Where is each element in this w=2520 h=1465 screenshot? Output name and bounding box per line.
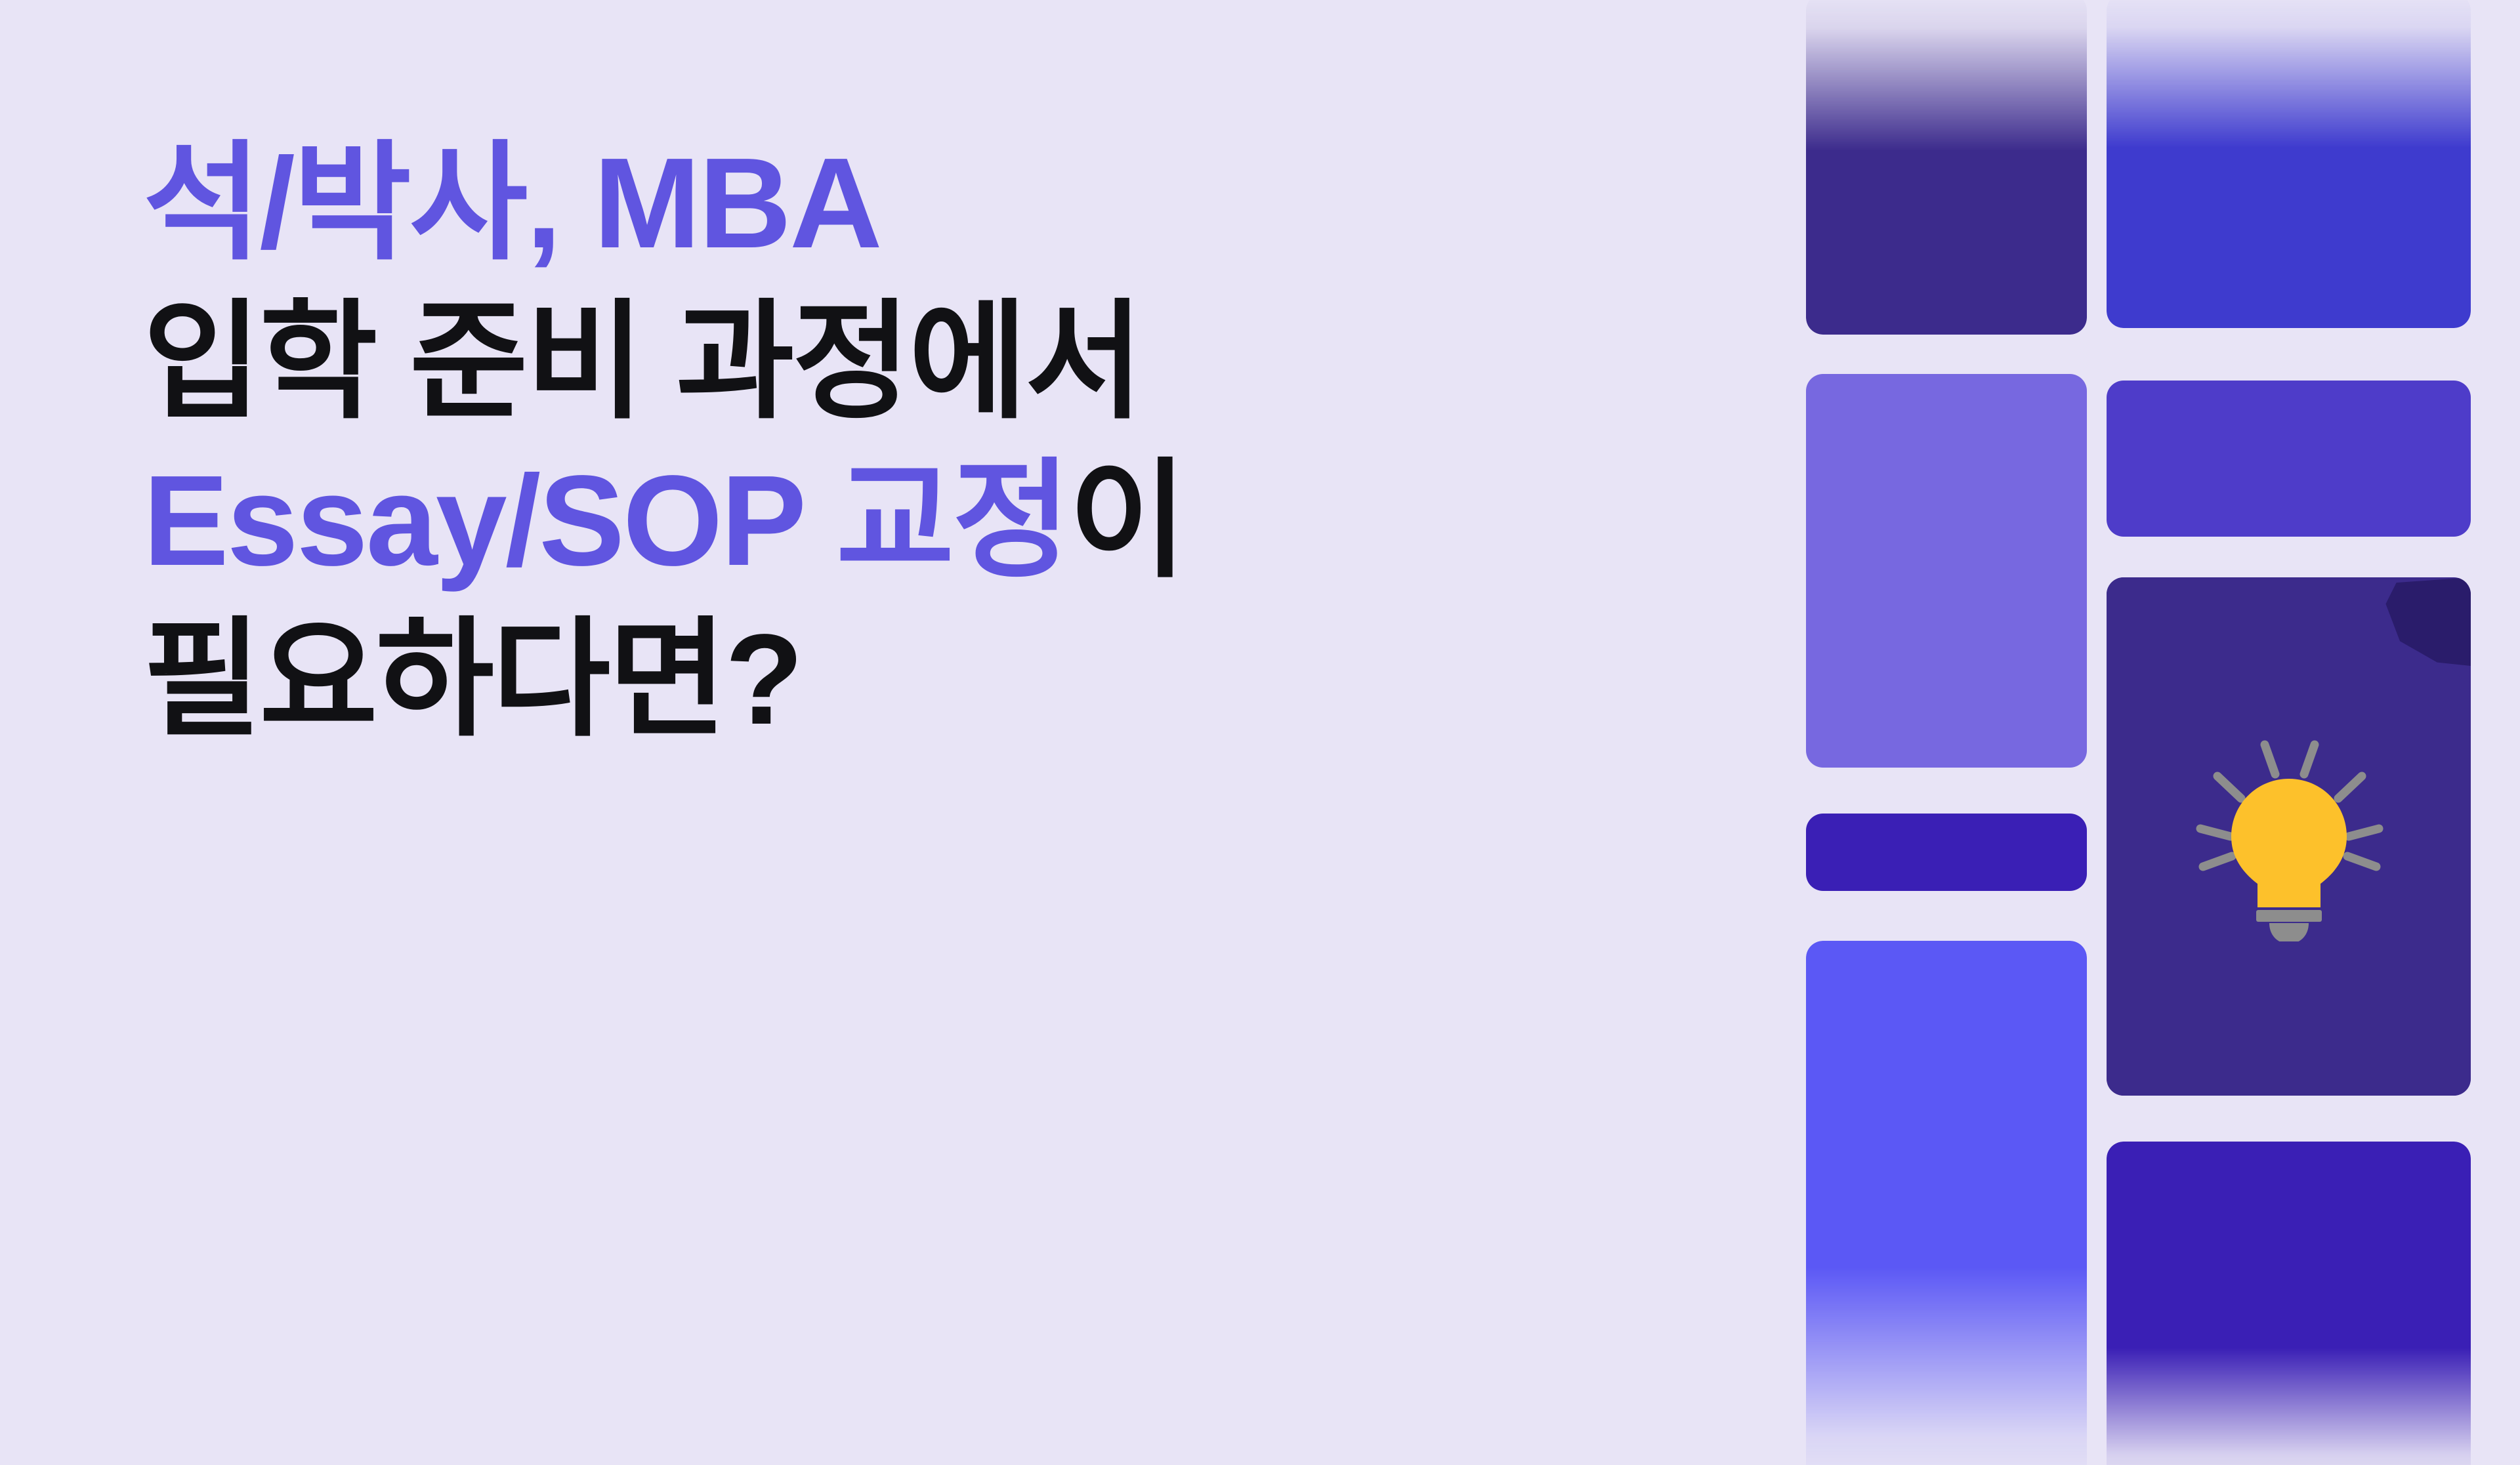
headline-block: 석/박사, MBA 입학 준비 과정에서 Essay/SOP 교정이 필요하다면… (143, 139, 1731, 744)
poster-canvas: 석/박사, MBA 입학 준비 과정에서 Essay/SOP 교정이 필요하다면… (0, 0, 2520, 1465)
decorative-card-collage (1806, 0, 2471, 1465)
card-medium-purple (1806, 374, 2087, 768)
headline-line-1: 석/박사, MBA (143, 139, 1731, 268)
card-purple-band (2107, 381, 2471, 537)
headline-segment-plain: 입학 준비 과정에서 (143, 290, 1141, 434)
headline-segment-plain: 이 (1069, 449, 1185, 592)
card-indigo-tall (2107, 1142, 2471, 1465)
card-dark-purple-tall (1806, 0, 2087, 335)
headline-segment-accent: 석/박사, MBA (143, 131, 881, 275)
headline-line-4: 필요하다면? (143, 615, 1731, 744)
headline-line-2: 입학 준비 과정에서 (143, 298, 1731, 426)
card-document-lightbulb (2107, 577, 2471, 1096)
headline-line-3: Essay/SOP 교정이 (143, 457, 1731, 585)
headline-segment-plain: 필요하다면? (143, 608, 801, 751)
headline-segment-accent: Essay/SOP 교정 (143, 449, 1069, 592)
card-blue-tall (2107, 0, 2471, 328)
card-bright-blue-tall (1806, 941, 2087, 1465)
lightbulb-icon (2181, 718, 2397, 941)
card-indigo-band (1806, 814, 2087, 891)
